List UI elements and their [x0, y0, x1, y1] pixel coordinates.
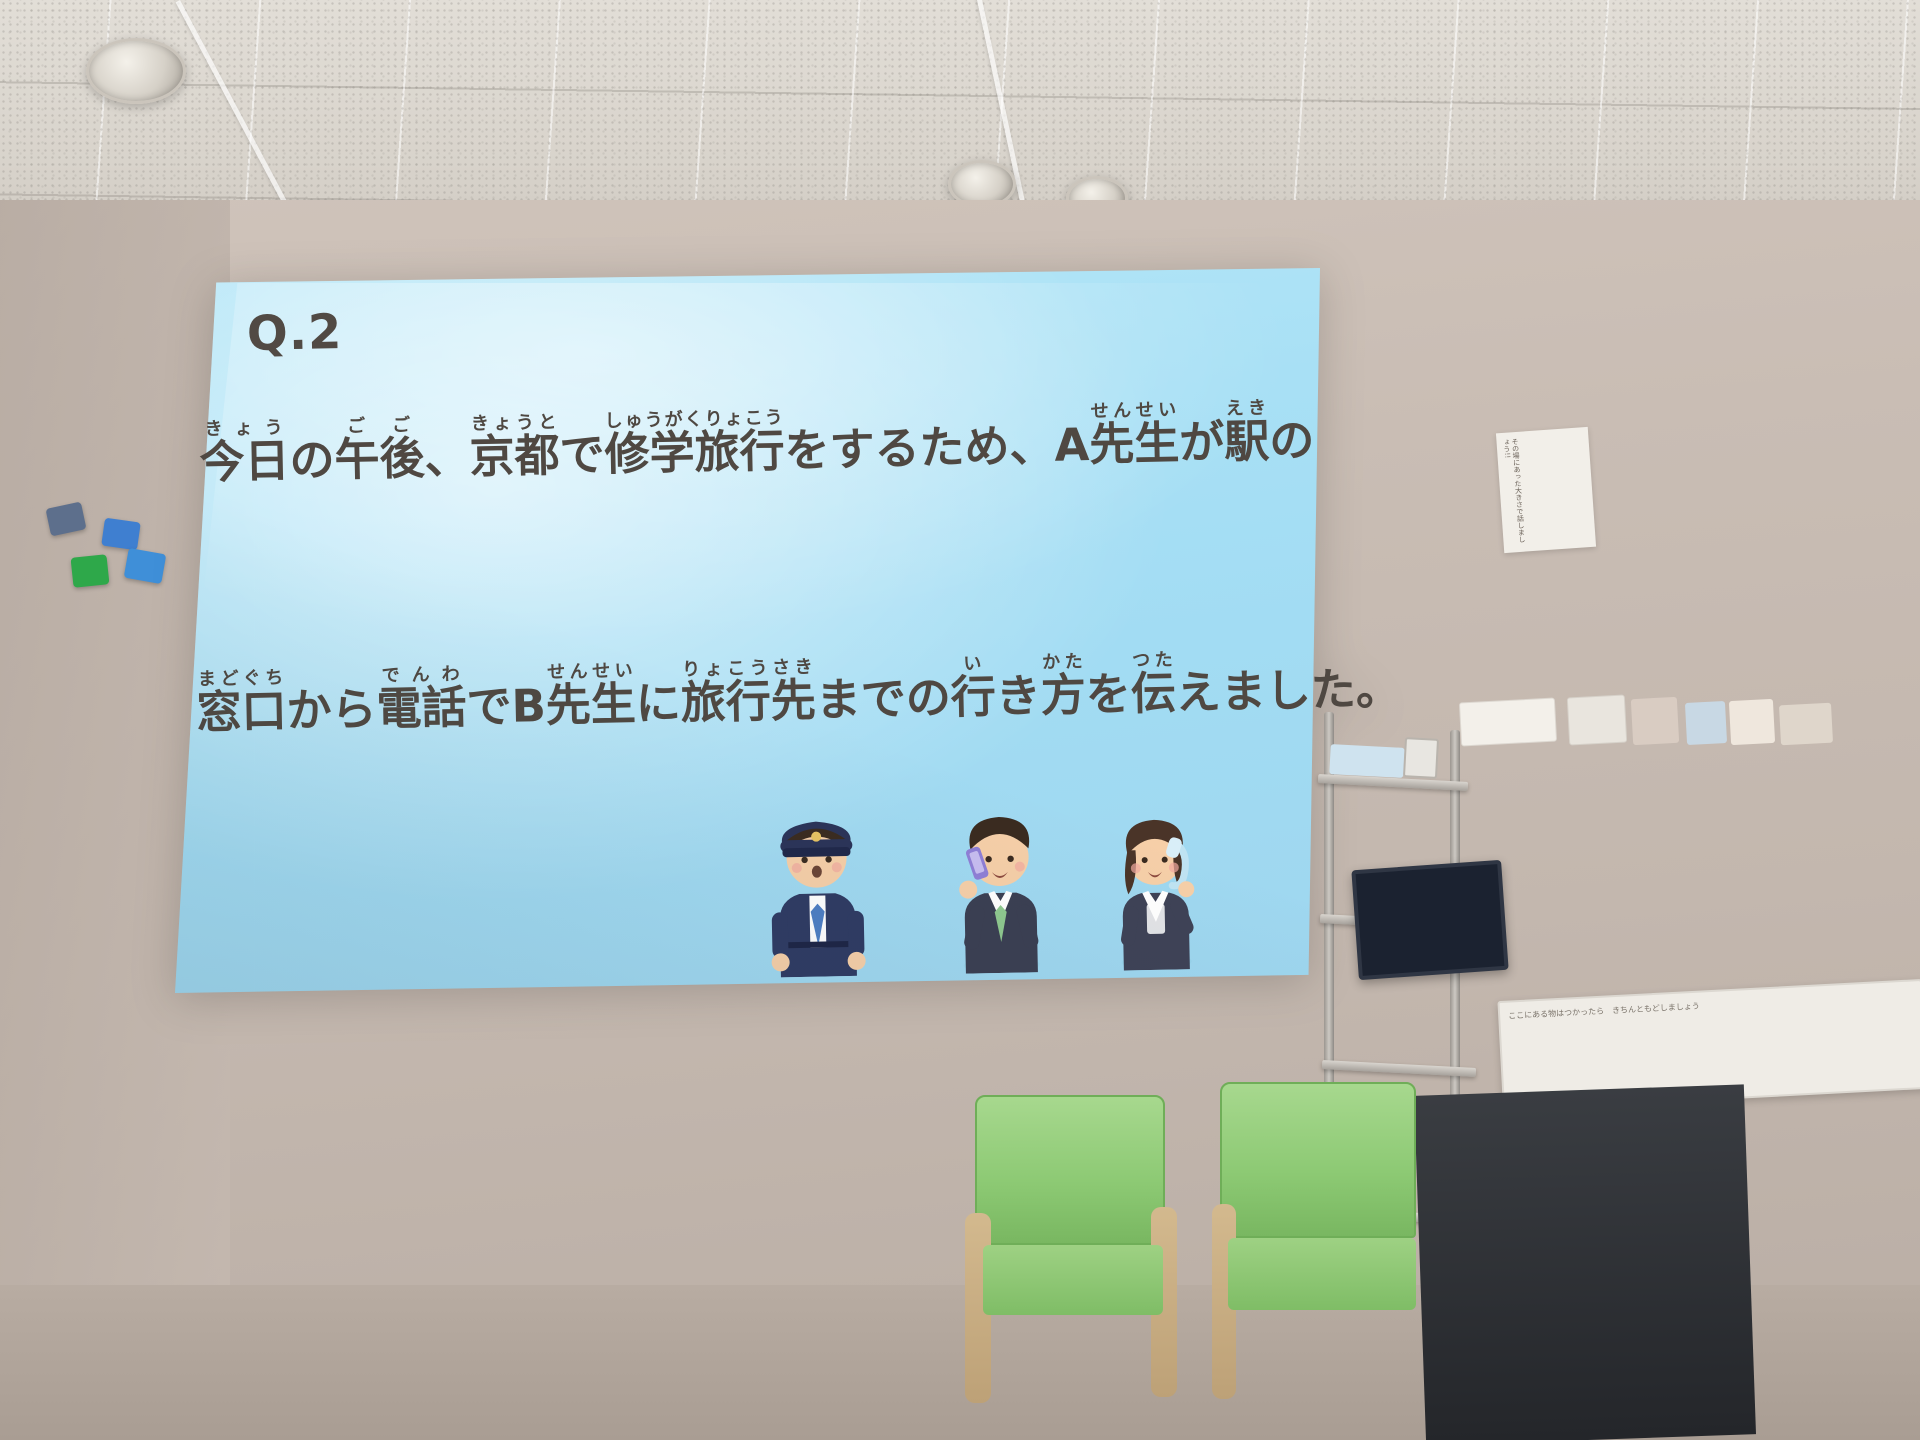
- ruby-group: 窓口まどぐち: [196, 684, 287, 739]
- illustration-group: [733, 779, 1207, 978]
- station-staff-character-icon: [755, 790, 879, 977]
- sentence-segment: 行い: [950, 653, 996, 726]
- ruby-group: 先生せんせい: [545, 677, 636, 732]
- shelf-item: [1779, 703, 1833, 746]
- furigana: きょう: [199, 417, 289, 440]
- ruby-group: 電話でんわ: [376, 681, 467, 736]
- ruby-group: 行い: [950, 670, 996, 724]
- sentence-segment: 午ご: [334, 415, 380, 488]
- sentence-line-2: 窓口まどぐちから電話でんわでB先生せんせいに旅行先りょこうさきまでの行いき方かた…: [196, 645, 1402, 741]
- sentence-segment: 窓口まどぐち: [196, 667, 287, 741]
- sentence-segment: 京都きょうと: [469, 412, 560, 486]
- sentence-segment: 先生せんせい: [1088, 399, 1179, 473]
- green-chair: [1212, 1082, 1442, 1440]
- ruby-group: 伝つた: [1130, 666, 1176, 720]
- ceiling-downlight-icon: [86, 38, 186, 104]
- sentence-segment: で: [559, 418, 605, 484]
- male-teacher-on-phone-character-icon: [938, 792, 1062, 974]
- ruby-group: 方かた: [1040, 668, 1086, 722]
- shelf-item: [1459, 698, 1557, 747]
- sentence-segment: の: [289, 423, 335, 489]
- sentence-segment: 電話でんわ: [376, 664, 467, 738]
- shelf-item: [1567, 695, 1627, 746]
- slide-content: Q.2 今日きょうの午ご後ご、京都きょうとで修学旅行しゅうがくりょこうをするため…: [168, 257, 1327, 1005]
- computer-monitor: [1351, 860, 1508, 980]
- ruby-group: 修学旅行しゅうがくりょこう: [604, 424, 785, 481]
- shelf-item: [1685, 701, 1727, 745]
- furigana: つた: [1130, 649, 1175, 671]
- furigana: せんせい: [545, 660, 635, 683]
- furigana: ご: [379, 414, 424, 436]
- furigana: まどぐち: [196, 667, 286, 690]
- ruby-group: 駅えき: [1224, 414, 1270, 468]
- furigana: かた: [1040, 651, 1085, 673]
- sentence-segment: に: [635, 666, 681, 732]
- sentence-segment: 、: [424, 421, 470, 487]
- wall-magnet: [71, 554, 110, 588]
- sentence-segment: 伝つた: [1130, 649, 1176, 722]
- sentence-segment: 旅行先りょこうさき: [680, 657, 816, 732]
- ruby-group: 今日きょう: [199, 434, 290, 489]
- furigana: い: [950, 653, 995, 675]
- question-number: Q.2: [246, 304, 343, 362]
- sentence-segment: 駅えき: [1223, 397, 1269, 470]
- ruby-group: 先生せんせい: [1089, 416, 1180, 471]
- ruby-group: 午ご: [334, 432, 380, 486]
- sentence-segment: 後ご: [379, 414, 425, 487]
- ruby-group: 京都きょうと: [469, 429, 560, 484]
- sentence-segment: をするため、A: [784, 408, 1090, 479]
- rack-item-box: [1329, 744, 1404, 778]
- ruby-group: 旅行先りょこうさき: [680, 674, 816, 730]
- sentence-segment: 先生せんせい: [545, 660, 636, 734]
- wall-poster: その場にあった大きさで話しましょう!!: [1496, 427, 1596, 553]
- sentence-segment: 今日きょう: [199, 417, 290, 491]
- shelf-item: [1631, 697, 1679, 745]
- sentence-segment: 方かた: [1040, 651, 1086, 724]
- sentence-segment: から: [286, 672, 377, 739]
- wall-magnet: [124, 548, 167, 584]
- furigana: でんわ: [376, 664, 466, 687]
- furigana: しゅうがくりょこう: [604, 407, 784, 432]
- furigana: せんせい: [1088, 399, 1178, 422]
- ruby-group: 後ご: [379, 431, 425, 485]
- sentence-segment: でB: [466, 669, 547, 736]
- dark-cabinet: [1414, 1084, 1756, 1440]
- sentence-segment: までの: [815, 661, 951, 729]
- sentence-line-1: 今日きょうの午ご後ご、京都きょうとで修学旅行しゅうがくりょこうをするため、A先生…: [199, 397, 1315, 491]
- sentence-segment: を: [1085, 657, 1131, 723]
- furigana: えき: [1223, 397, 1268, 419]
- rack-item-tablet: [1403, 737, 1439, 779]
- furigana: ご: [334, 415, 379, 437]
- sentence-segment: えました。: [1175, 652, 1401, 722]
- sentence-segment: の: [1269, 404, 1315, 470]
- green-chair: [965, 1095, 1205, 1440]
- shelf-item: [1729, 699, 1775, 745]
- sentence-segment: が: [1179, 405, 1225, 471]
- projection-screen: Q.2 今日きょうの午ご後ご、京都きょうとで修学旅行しゅうがくりょこうをするため…: [175, 268, 1320, 993]
- furigana: きょうと: [469, 412, 559, 435]
- classroom-scene: Q.2 今日きょうの午ご後ご、京都きょうとで修学旅行しゅうがくりょこうをするため…: [0, 0, 1920, 1440]
- wall-magnet: [101, 518, 141, 551]
- female-teacher-on-phone-character-icon: [1098, 797, 1211, 971]
- furigana: りょこうさき: [680, 657, 815, 681]
- sentence-segment: き: [995, 659, 1041, 725]
- sentence-segment: 修学旅行しゅうがくりょこう: [604, 407, 785, 483]
